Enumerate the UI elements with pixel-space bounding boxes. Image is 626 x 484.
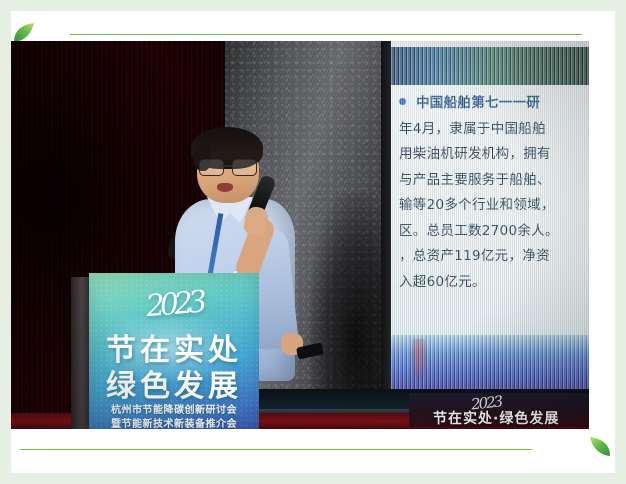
slide-line: 输等20多个行业和领域， [399,193,589,219]
backdrop-slogan: 节在实处·绿色发展 [433,408,559,427]
slide-line: 年4月，隶属于中国船舶 [399,117,589,143]
slide-line: 入超60亿元。 [399,270,589,296]
slide-header-image [391,47,589,85]
glasses-lens-left [199,159,224,176]
leaf-icon [588,436,612,458]
podium-side-panel [71,277,89,429]
top-divider [70,34,582,35]
podium-subtitle-line2: 暨节能新技术新装备推介会 [89,415,259,429]
photo-page: 中国船舶第七一一研 年4月，隶属于中国船舶 用柴油机研发机构，拥有 与产品主要服… [0,0,626,484]
slide-text-body: 中国船舶第七一一研 年4月，隶属于中国船舶 用柴油机研发机构，拥有 与产品主要服… [391,85,589,335]
stage-backdrop-banner: 2023 节在实处·绿色发展 [409,393,589,427]
podium-banner: 2023 节在实处 绿色发展 杭州市节能降碳创新研讨会 暨节能新技术新装备推介会 [89,273,259,429]
bullet-icon [399,98,406,105]
slide-line: 与产品主要服务于船舶、 [399,168,589,194]
projection-screen: 中国船舶第七一一研 年4月，隶属于中国船舶 用柴油机研发机构，拥有 与产品主要服… [391,41,589,389]
podium-title-line2: 绿色发展 [89,361,259,405]
glasses-lens-right [232,159,257,176]
bottom-divider [20,449,532,450]
slide-line: ，总资产119亿元，净资 [399,244,589,270]
slide-line: 用柴油机研发机构，拥有 [399,142,589,168]
conference-photo: 中国船舶第七一一研 年4月，隶属于中国船舶 用柴油机研发机构，拥有 与产品主要服… [11,41,589,429]
glasses-icon [199,159,257,174]
slide-footer-image [391,335,589,389]
slide-heading: 中国船舶第七一一研 [399,91,589,117]
speaker-mouth [217,183,233,192]
podium-subtitle-line1: 杭州市节能降碳创新研讨会 [89,401,259,416]
slide-line: 区。总员工数2700余人。 [399,219,589,245]
